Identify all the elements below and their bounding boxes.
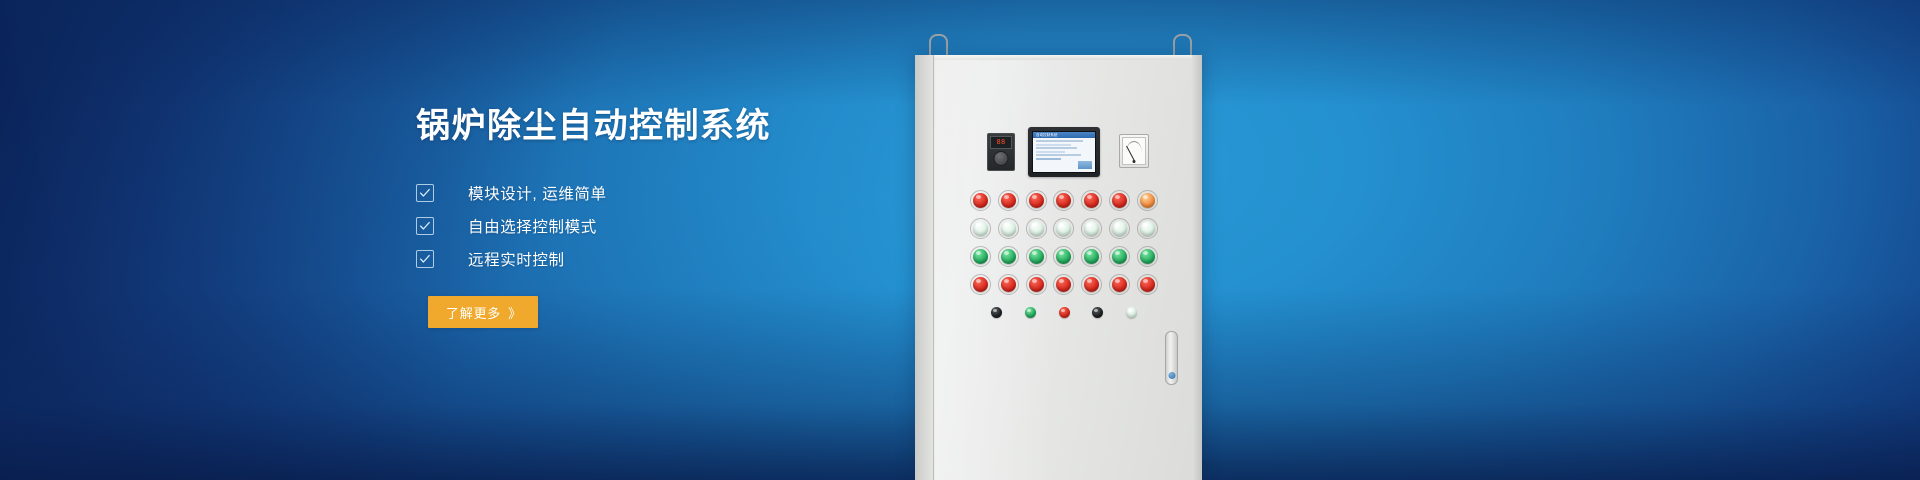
lamp-bezel-ring — [1081, 190, 1102, 211]
learn-more-label: 了解更多 — [446, 303, 501, 322]
learn-more-button[interactable]: 了解更多 》 — [428, 296, 538, 328]
lamp-bezel-ring — [1026, 246, 1047, 267]
indicator-lamp-white[interactable] — [1140, 221, 1155, 236]
lamp-bezel-ring — [1137, 190, 1158, 211]
selector-switch-black[interactable] — [1092, 307, 1103, 318]
indicator-lamp-grid — [973, 193, 1155, 331]
indicator-lamp-white[interactable] — [1029, 221, 1044, 236]
lamp-bezel-ring — [1137, 274, 1158, 295]
selector-switch-black[interactable] — [991, 307, 1002, 318]
lamp-bezel-ring — [1081, 218, 1102, 239]
lamp-row — [973, 249, 1155, 264]
indicator-lamp-red[interactable] — [1112, 277, 1127, 292]
indicator-lamp-red[interactable] — [1140, 277, 1155, 292]
lamp-bezel-ring — [998, 274, 1019, 295]
feature-label: 模块设计, 运维简单 — [468, 182, 607, 204]
controller-digits: 88 — [996, 139, 1005, 146]
lamp-bezel-ring — [970, 218, 991, 239]
feature-list: 模块设计, 运维简单 自由选择控制模式 远程实时控制 — [416, 176, 836, 275]
lamp-bezel-ring — [1053, 274, 1074, 295]
door-lock-icon[interactable] — [1168, 372, 1175, 379]
banner-content: 锅炉除尘自动控制系统 模块设计, 运维简单 自由选择控制模式 — [416, 0, 936, 480]
lamp-bezel-ring — [970, 274, 991, 295]
cabinet-body: 88 自动控制系统 — [915, 55, 1202, 480]
lamp-bezel-ring — [1109, 274, 1130, 295]
indicator-lamp-white[interactable] — [1001, 221, 1016, 236]
lamp-bezel-ring — [1081, 274, 1102, 295]
lifting-lug-left-icon — [929, 34, 948, 56]
cabinet-right-edge — [1192, 55, 1202, 480]
indicator-lamp-red[interactable] — [1029, 277, 1044, 292]
indicator-lamp-green[interactable] — [1112, 249, 1127, 264]
indicator-lamp-red[interactable] — [1084, 277, 1099, 292]
cabinet-door-seam — [933, 55, 934, 480]
lamp-row — [973, 221, 1155, 236]
lamp-bezel-ring — [1109, 218, 1130, 239]
indicator-lamp-red[interactable] — [973, 193, 988, 208]
hmi-data-row — [1036, 158, 1061, 160]
hmi-touchscreen[interactable]: 自动控制系统 — [1028, 127, 1100, 177]
cabinet-left-edge — [915, 55, 933, 480]
lamp-bezel-ring — [998, 190, 1019, 211]
hmi-chart-block — [1078, 161, 1092, 169]
feature-label: 自由选择控制模式 — [468, 215, 597, 237]
lamp-bezel-ring — [1053, 190, 1074, 211]
page-title: 锅炉除尘自动控制系统 — [416, 104, 771, 148]
push-button-white[interactable] — [1126, 307, 1137, 318]
checkbox-checked-icon — [416, 184, 434, 202]
indicator-lamp-white[interactable] — [1112, 221, 1127, 236]
indicator-lamp-red[interactable] — [1112, 193, 1127, 208]
gauge-face — [1122, 137, 1146, 165]
hmi-data-row — [1036, 154, 1081, 156]
chevron-right-double-icon: 》 — [508, 303, 520, 322]
lamp-bezel-ring — [1109, 246, 1130, 267]
hmi-screen: 自动控制系统 — [1032, 131, 1096, 173]
hmi-data-row — [1036, 140, 1083, 142]
hero-banner: 锅炉除尘自动控制系统 模块设计, 运维简单 自由选择控制模式 — [0, 0, 1920, 480]
lamp-bezel-ring — [1053, 246, 1074, 267]
feature-label: 远程实时控制 — [468, 248, 565, 270]
indicator-lamp-white[interactable] — [1056, 221, 1071, 236]
lamp-bezel-ring — [1081, 246, 1102, 267]
indicator-lamp-green[interactable] — [1029, 249, 1044, 264]
lamp-row — [973, 193, 1155, 208]
indicator-lamp-red[interactable] — [1056, 277, 1071, 292]
feature-item: 模块设计, 运维简单 — [416, 176, 836, 209]
lamp-bezel-ring — [970, 246, 991, 267]
lamp-bezel-ring — [1137, 218, 1158, 239]
hmi-data-row — [1036, 144, 1071, 146]
lamp-bezel-ring — [1026, 190, 1047, 211]
lamp-bezel-ring — [998, 246, 1019, 267]
hmi-data-row — [1036, 151, 1065, 153]
indicator-lamp-green[interactable] — [1056, 249, 1071, 264]
lamp-bezel-ring — [1026, 218, 1047, 239]
hmi-body — [1033, 138, 1095, 160]
lamp-bezel-ring — [970, 190, 991, 211]
lamp-bezel-ring — [998, 218, 1019, 239]
feature-item: 远程实时控制 — [416, 242, 836, 275]
cabinet-top-edge — [915, 55, 1202, 60]
indicator-lamp-white[interactable] — [1084, 221, 1099, 236]
lamp-bezel-ring — [1109, 190, 1130, 211]
gauge-hub — [1133, 160, 1136, 163]
indicator-lamp-red[interactable] — [1056, 193, 1071, 208]
controller-display: 88 — [990, 136, 1012, 149]
indicator-lamp-red[interactable] — [973, 277, 988, 292]
hmi-data-row — [1036, 147, 1077, 149]
analog-gauge — [1119, 134, 1149, 168]
lamp-bezel-ring — [1026, 274, 1047, 295]
indicator-lamp-green[interactable] — [1001, 249, 1016, 264]
lamp-bezel-ring — [1137, 246, 1158, 267]
indicator-lamp-orange[interactable] — [1140, 193, 1155, 208]
push-button-red[interactable] — [1059, 307, 1070, 318]
controller-knob[interactable] — [994, 151, 1009, 166]
feature-item: 自由选择控制模式 — [416, 209, 836, 242]
indicator-lamp-red[interactable] — [1001, 277, 1016, 292]
hmi-title: 自动控制系统 — [1033, 132, 1058, 138]
indicator-lamp-green[interactable] — [1084, 249, 1099, 264]
checkbox-checked-icon — [416, 217, 434, 235]
indicator-lamp-red[interactable] — [1084, 193, 1099, 208]
cabinet-door-handle[interactable] — [1165, 331, 1178, 385]
indicator-lamp-green[interactable] — [973, 249, 988, 264]
indicator-lamp-red[interactable] — [1029, 193, 1044, 208]
lamp-row — [973, 277, 1155, 292]
checkbox-checked-icon — [416, 250, 434, 268]
lamp-bezel-ring — [1053, 218, 1074, 239]
control-cabinet: 88 自动控制系统 — [905, 34, 1215, 480]
lamp-row — [973, 305, 1155, 318]
indicator-lamp-green[interactable] — [1140, 249, 1155, 264]
indicator-lamp-white[interactable] — [973, 221, 988, 236]
indicator-lamp-red[interactable] — [1001, 193, 1016, 208]
lifting-lug-right-icon — [1173, 34, 1192, 56]
digital-controller[interactable]: 88 — [987, 133, 1015, 171]
push-button-green[interactable] — [1025, 307, 1036, 318]
